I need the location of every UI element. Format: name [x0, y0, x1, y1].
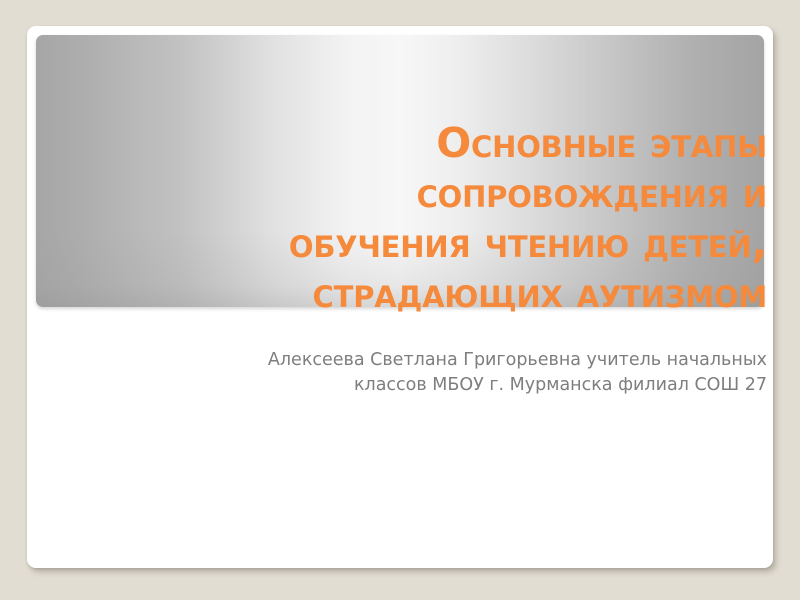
slide-title: Основные этапы сопровождения и обучения …	[67, 118, 767, 318]
slide-card: Основные этапы сопровождения и обучения …	[27, 26, 773, 568]
title-line-3: обучения чтению детей,	[67, 218, 767, 268]
title-line-4: страдающих аутизмом	[67, 268, 767, 318]
slide-subtitle: Алексеева Светлана Григорьевна учитель н…	[67, 348, 767, 398]
presentation-slide: Основные этапы сопровождения и обучения …	[0, 0, 800, 600]
title-line-2: сопровождения и	[67, 168, 767, 218]
slide-content-area	[27, 416, 773, 568]
title-line-1: Основные этапы	[67, 118, 767, 168]
subtitle-line-1: Алексеева Светлана Григорьевна учитель н…	[67, 348, 767, 373]
subtitle-line-2: классов МБОУ г. Мурманска филиал СОШ 27	[67, 373, 767, 398]
